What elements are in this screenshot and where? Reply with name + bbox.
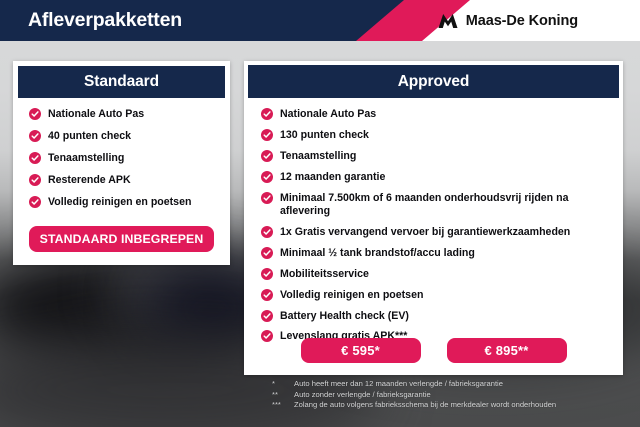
list-item: Nationale Auto Pas	[13, 108, 230, 122]
card-body-approved: Nationale Auto Pas 130 punten check Tena…	[244, 98, 623, 344]
list-item: Volledig reinigen en poetsen	[244, 289, 623, 303]
footnote-row: *** Zolang de auto volgens fabrieksschem…	[272, 400, 632, 411]
feature-label: Minimaal 7.500km of 6 maanden onderhouds…	[280, 192, 613, 219]
check-circle-icon	[29, 130, 41, 142]
list-item: Battery Health check (EV)	[244, 310, 623, 324]
feature-label: 40 punten check	[48, 130, 131, 144]
package-card-approved: Approved Nationale Auto Pas 130 punten c…	[244, 61, 623, 375]
list-item: 130 punten check	[244, 129, 623, 143]
feature-label: 12 maanden garantie	[280, 171, 385, 185]
list-item: Volledig reinigen en poetsen	[13, 196, 230, 210]
feature-label: Volledig reinigen en poetsen	[280, 289, 423, 303]
feature-label: Minimaal ½ tank brandstof/accu lading	[280, 247, 475, 261]
feature-list-standaard: Nationale Auto Pas 40 punten check Tenaa…	[13, 108, 230, 210]
price-button-895[interactable]: € 895**	[447, 338, 567, 363]
feature-label: Battery Health check (EV)	[280, 310, 409, 324]
footnote-text: Zolang de auto volgens fabrieksschema bi…	[294, 400, 632, 411]
price-button-595[interactable]: € 595*	[301, 338, 421, 363]
check-circle-icon	[261, 289, 273, 301]
feature-list-approved: Nationale Auto Pas 130 punten check Tena…	[244, 108, 623, 344]
list-item: Tenaamstelling	[244, 150, 623, 164]
footnote-row: * Auto heeft meer dan 12 maanden verleng…	[272, 379, 632, 390]
feature-label: 1x Gratis vervangend vervoer bij garanti…	[280, 226, 570, 240]
list-item: Resterende APK	[13, 174, 230, 188]
feature-label: Volledig reinigen en poetsen	[48, 196, 191, 210]
footnote-marker: *	[272, 379, 294, 390]
check-circle-icon	[261, 226, 273, 238]
feature-label: Nationale Auto Pas	[280, 108, 376, 122]
maas-de-koning-logo-icon	[437, 13, 459, 29]
check-circle-icon	[261, 129, 273, 141]
brand-name: Maas-De Koning	[466, 13, 578, 29]
page-title: Afleverpakketten	[28, 0, 182, 41]
card-title-standaard: Standaard	[18, 66, 225, 98]
list-item: Nationale Auto Pas	[244, 108, 623, 122]
footnote-text: Auto zonder verlengde / fabrieksgarantie	[294, 390, 632, 401]
price-button-row: € 595* € 895**	[244, 338, 623, 363]
standaard-inbegrepen-button[interactable]: STANDAARD INBEGREPEN	[29, 226, 214, 252]
footnote-marker: ***	[272, 400, 294, 411]
page-header: Afleverpakketten Maas-De Koning	[0, 0, 640, 41]
check-circle-icon	[29, 174, 41, 186]
background-blur-shape	[0, 248, 280, 368]
check-circle-icon	[261, 310, 273, 322]
check-circle-icon	[261, 171, 273, 183]
check-circle-icon	[261, 192, 273, 204]
feature-label: Nationale Auto Pas	[48, 108, 144, 122]
feature-label: Tenaamstelling	[280, 150, 356, 164]
check-circle-icon	[261, 108, 273, 120]
package-card-standaard: Standaard Nationale Auto Pas 40 punten c…	[13, 61, 230, 265]
feature-label: Mobiliteitsservice	[280, 268, 369, 282]
feature-label: Tenaamstelling	[48, 152, 124, 166]
card-body-standaard: Nationale Auto Pas 40 punten check Tenaa…	[13, 98, 230, 210]
list-item: Minimaal ½ tank brandstof/accu lading	[244, 247, 623, 261]
check-circle-icon	[261, 150, 273, 162]
check-circle-icon	[261, 247, 273, 259]
list-item: 40 punten check	[13, 130, 230, 144]
list-item: Tenaamstelling	[13, 152, 230, 166]
promo-page: Afleverpakketten Maas-De Koning Standaar…	[0, 0, 640, 427]
list-item: 1x Gratis vervangend vervoer bij garanti…	[244, 226, 623, 240]
check-circle-icon	[261, 268, 273, 280]
list-item: Minimaal 7.500km of 6 maanden onderhouds…	[244, 192, 623, 219]
footnote-row: ** Auto zonder verlengde / fabrieksgaran…	[272, 390, 632, 401]
list-item: Mobiliteitsservice	[244, 268, 623, 282]
card-title-approved: Approved	[248, 65, 619, 98]
check-circle-icon	[29, 196, 41, 208]
footnote-text: Auto heeft meer dan 12 maanden verlengde…	[294, 379, 632, 390]
feature-label: 130 punten check	[280, 129, 369, 143]
list-item: 12 maanden garantie	[244, 171, 623, 185]
check-circle-icon	[29, 108, 41, 120]
check-circle-icon	[29, 152, 41, 164]
brand-logo: Maas-De Koning	[437, 0, 578, 41]
footnote-marker: **	[272, 390, 294, 401]
footnotes: * Auto heeft meer dan 12 maanden verleng…	[272, 379, 632, 411]
feature-label: Resterende APK	[48, 174, 131, 188]
